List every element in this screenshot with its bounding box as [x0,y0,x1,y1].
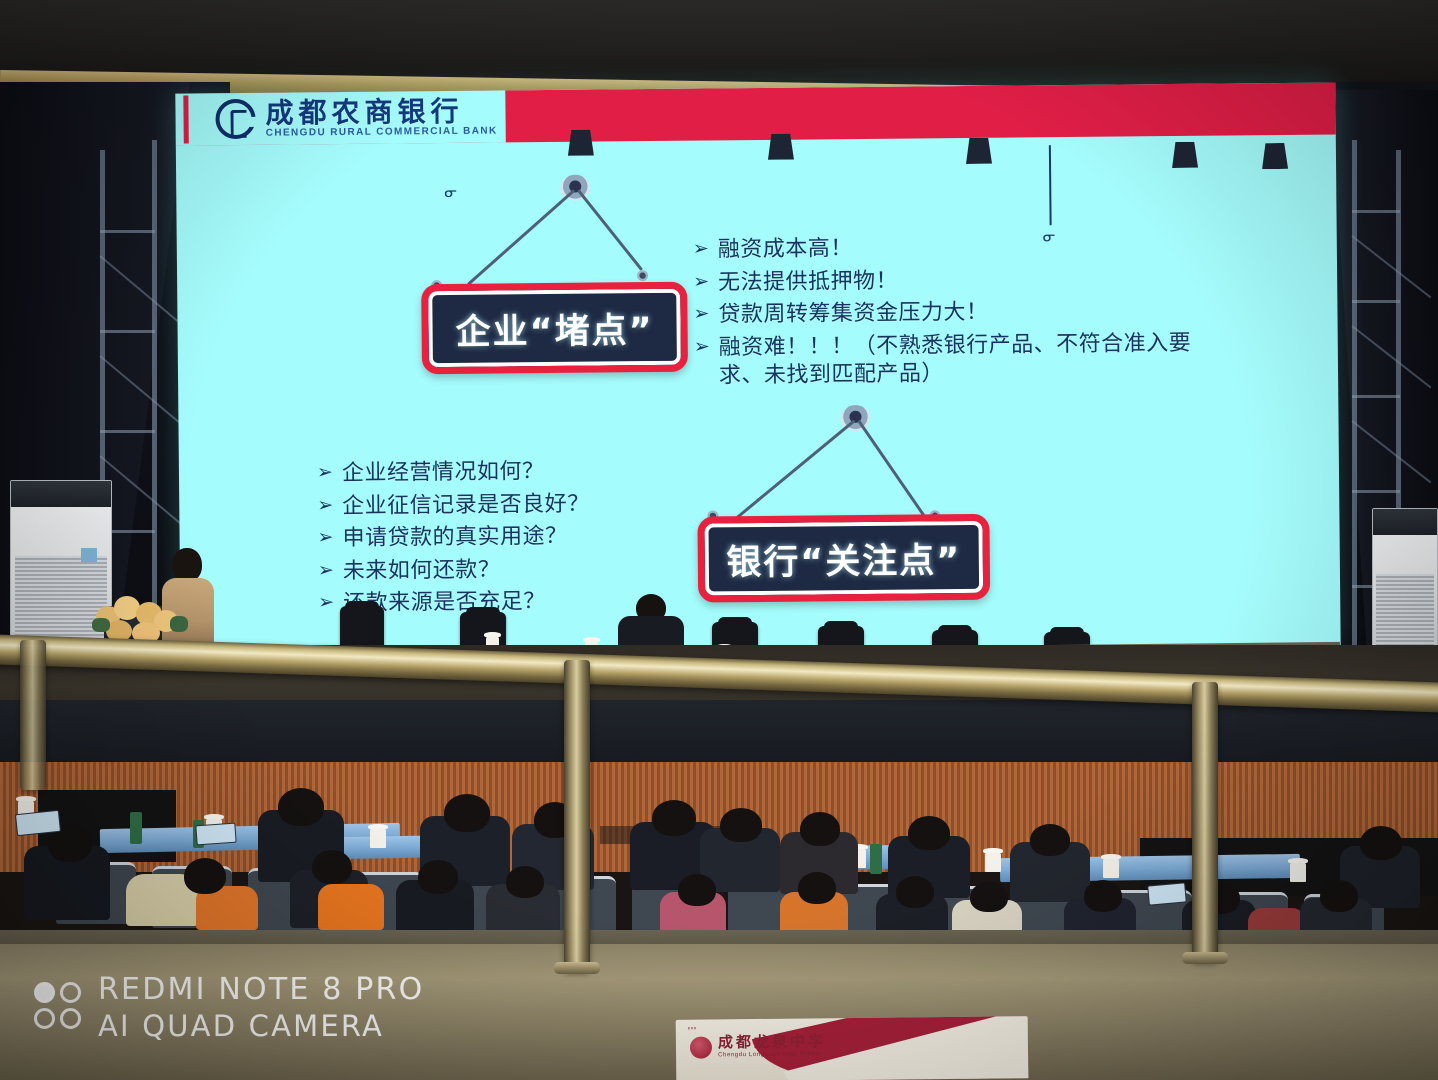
truss-vertical-left-b [152,140,157,640]
audience-person-head [506,866,544,898]
bank-logo-mark-icon [215,99,255,139]
flower-foliage [92,618,110,632]
sign-cord-left-top [467,189,575,285]
stage-spotlight-3 [966,138,992,164]
bank-question-item: ➢ 企业经营情况如何？ [317,457,677,489]
bank-question-item: ➢ 未来如何还款？ [318,555,678,587]
audience-person-head [720,808,762,842]
sign-enterprise-wrap: 企业“堵点” [408,173,710,376]
sign-enterprise-blockers: 企业“堵点” [421,282,688,375]
bank-question-text: 申请贷款的真实用途？ [342,523,567,554]
audience-cup [985,852,1001,872]
hvac-grill-right [1376,574,1435,651]
audience-person-head [896,876,934,908]
stage-spotlight-1 [568,130,594,156]
camera-lens-icon [34,1008,55,1029]
pain-point-item: ➢ 融资成本高！ [693,231,1253,265]
bank-question-text: 企业经营情况如何？ [342,458,545,489]
bank-name-cn: 成都农商银行 [265,96,497,128]
camera-model-label: REDMI NOTE 8 PRO [98,972,424,1007]
audience-person-head [1320,880,1358,912]
audience-bottle [130,812,142,844]
truss-rung-left-3 [100,430,155,433]
audience-cup [370,828,386,848]
pain-point-item: ➢ 无法提供抵押物！ [693,264,1253,298]
sign-cord-right-top [577,189,643,271]
audience-person-head [444,794,490,832]
pain-point-text: 融资成本高！ [718,235,853,265]
audience-person-head [278,788,324,826]
sign-cord-right-bottom [857,420,928,521]
audience-cup [1103,858,1119,878]
bank-logo-text: 成都农商银行 CHENGDU RURAL COMMERCIAL BANK [265,96,497,139]
hvac-unit-right [1372,508,1438,658]
flower-foliage [170,616,188,632]
sign-enterprise-label: 企业“堵点” [455,302,653,355]
venue-name-en: Chengdu Longquan High School [718,1051,826,1058]
pain-point-text: 融资难！！！（不熟悉银行产品、不符合准入要求、未找到匹配产品） [719,329,1220,391]
venue-name-cn: 成都龙泉中学 [718,1034,826,1050]
pain-point-item: ➢ 贷款周转筹集资金压力大！ [693,296,1253,330]
audience-bottle [870,844,882,874]
led-presentation-screen: 成都农商银行 CHENGDU RURAL COMMERCIAL BANK ᓂ ᓂ… [175,82,1340,658]
sign-bank-label: 银行“关注点” [726,532,961,585]
stage-spotlight-4 [1172,142,1198,168]
hvac-badge [81,548,97,562]
slide-mark-line [1049,145,1052,225]
truss-rung-right-3 [1352,395,1400,398]
hvac-top-panel [11,481,111,507]
railing-post [1192,682,1218,962]
bank-question-item: ➢ 企业征信记录是否良好？ [317,489,677,521]
bank-question-item: ➢ 申请贷款的真实用途？ [317,522,677,554]
pain-point-item: ➢ 融资难！！！（不熟悉银行产品、不符合准入要求、未找到匹配产品） [694,329,1255,392]
audience-person-head [1360,826,1402,860]
bullet-arrow-icon: ➢ [317,493,333,517]
audience-person-head [970,882,1008,912]
quad-camera-icon [34,982,84,1034]
audience-person-head [1084,880,1122,912]
audience-phone [195,823,236,846]
venue-banner-logo: 成都龙泉中学 Chengdu Longquan High School [690,1034,826,1058]
photo-scene: 成都农商银行 CHENGDU RURAL COMMERCIAL BANK ᓂ ᓂ… [0,0,1438,1080]
bank-question-text: 企业征信记录是否良好？ [342,490,590,521]
camera-lens-icon [34,982,55,1003]
railing-post [20,640,46,790]
truss-rung-right-4 [1352,490,1400,493]
pain-point-text: 无法提供抵押物！ [718,267,898,297]
audience-person-head [312,850,352,884]
sign-bank-wrap: 银行“关注点” [688,404,1010,607]
pain-point-text: 贷款周转筹集资金压力大！ [718,299,988,330]
truss-rung-left-1 [100,230,155,233]
railing-post-base [1182,952,1228,964]
stage-front-panel [0,700,1438,770]
audience-phone [1147,882,1187,905]
speaker-head [172,548,202,582]
hvac-top-panel-right [1373,509,1437,535]
sign-cord-left-bottom [732,419,856,522]
bullet-arrow-icon: ➢ [318,558,334,582]
audience-person-head [1030,824,1070,856]
bullet-arrow-icon: ➢ [317,460,333,484]
truss-vertical-right-a [1352,140,1357,660]
venue-banner: ''' 成都龙泉中学 Chengdu Longquan High School [676,1016,1029,1080]
stage-spotlight-2 [768,134,794,160]
audience-cup [1290,862,1306,882]
truss-rung-right-2 [1352,300,1400,303]
pain-points-list: ➢ 融资成本高！ ➢ 无法提供抵押物！ ➢ 贷款周转筹集资金压力大！ ➢ 融资难… [693,231,1255,395]
audience-person-head [678,874,716,906]
bullet-arrow-icon: ➢ [693,269,709,293]
slide-header-accent-tick [183,95,188,143]
bank-logo: 成都农商银行 CHENGDU RURAL COMMERCIAL BANK [215,96,497,139]
sign-bank-focus-points: 银行“关注点” [697,514,990,603]
audience-person-head [798,872,836,904]
audience-person-head [908,816,950,850]
camera-feature-label: AI QUAD CAMERA [98,1009,424,1043]
bullet-arrow-icon: ➢ [694,334,710,358]
bullet-arrow-icon: ➢ [693,302,709,326]
bullet-arrow-icon: ➢ [693,236,709,260]
audience-person-head [800,812,840,846]
truss-rung-right-1 [1352,210,1400,213]
railing-post [564,660,590,972]
bullet-arrow-icon: ➢ [318,590,334,614]
bullet-arrow-icon: ➢ [317,525,333,549]
camera-lens-icon [60,1008,81,1029]
audience-phone [15,810,61,836]
bank-question-text: 未来如何还款？ [343,556,501,586]
camera-watermark-text: REDMI NOTE 8 PRO AI QUAD CAMERA [98,972,424,1043]
stage-spotlight-5 [1262,143,1288,169]
audience-person-head [184,858,226,894]
railing-post-base [554,962,600,974]
school-seal-icon [690,1036,712,1058]
bank-name-en: CHENGDU RURAL COMMERCIAL BANK [266,126,498,139]
truss-rung-left-2 [100,330,155,333]
audience-person-head [652,800,696,836]
audience-person-head [418,860,458,894]
venue-banner-text: 成都龙泉中学 Chengdu Longquan High School [718,1034,826,1058]
camera-watermark: REDMI NOTE 8 PRO AI QUAD CAMERA [34,972,424,1043]
camera-lens-icon [60,982,81,1003]
audience-person-torso-orange3 [318,884,384,930]
sign-eyelet-right-top [637,270,648,281]
